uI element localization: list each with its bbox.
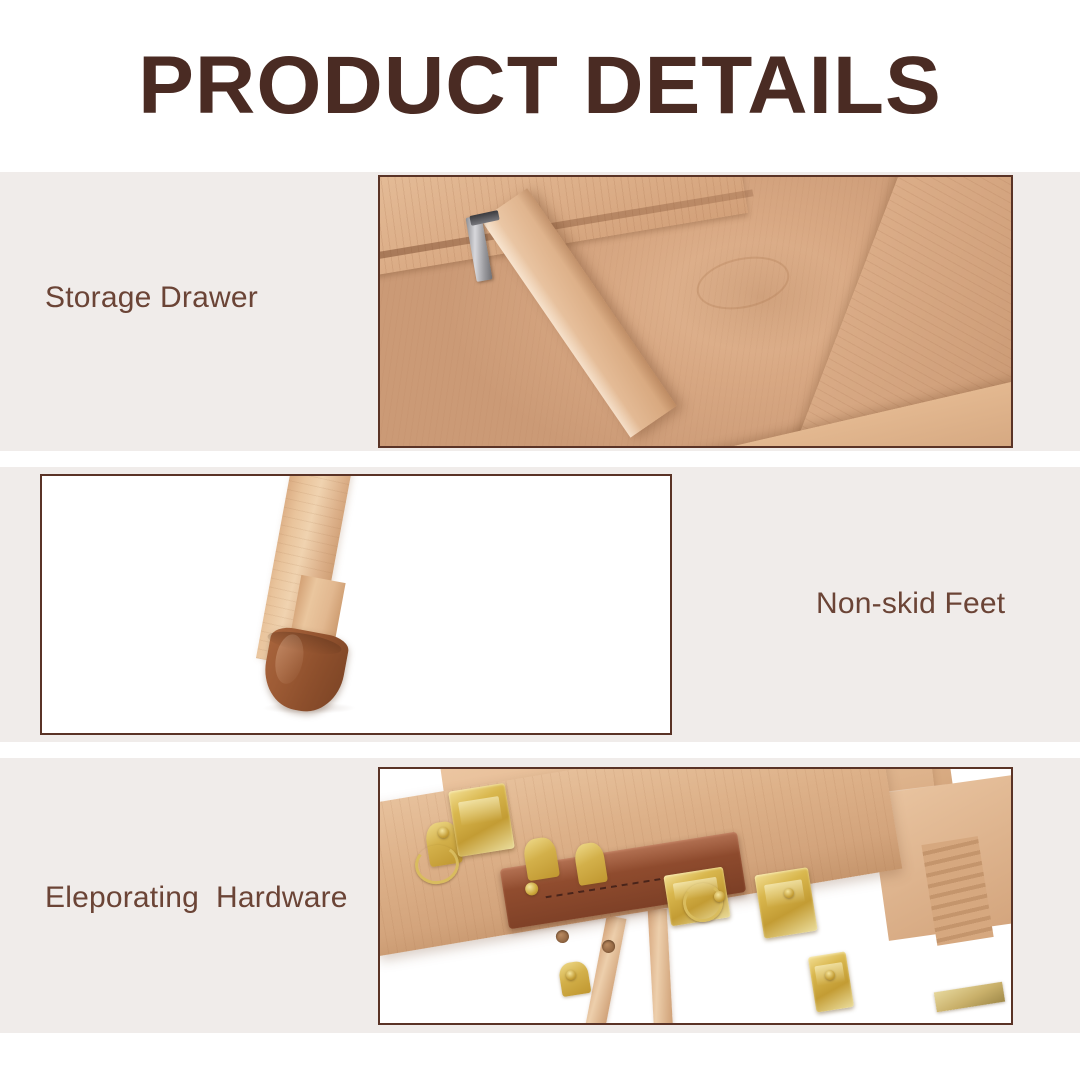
product-photo-storage-drawer [378,175,1013,448]
brass-toggle-latch [754,867,817,938]
detail-panel-non-skid-feet: Non-skid Feet [0,467,1080,742]
screw-hole [555,930,570,945]
handle-rivet [524,882,539,897]
product-photo-hardware [378,767,1013,1025]
photo-non-skid-feet-content [42,476,670,733]
panel-label-storage-drawer: Storage Drawer [45,281,258,315]
panel-label-hardware: Eleporating Hardware [45,881,348,915]
photo-hardware-content [380,769,1011,1023]
detail-panel-hardware: Eleporating Hardware [0,758,1080,1033]
photo-storage-drawer-content [380,177,1011,446]
page-header: PRODUCT DETAILS [0,0,1080,172]
product-photo-non-skid-feet [40,474,672,735]
detail-panel-storage-drawer: Storage Drawer [0,172,1080,451]
brass-screw [825,970,835,980]
page-title: PRODUCT DETAILS [138,39,942,133]
photo-white-backdrop [42,476,670,733]
screw-hole [601,939,616,954]
panel-label-non-skid-feet: Non-skid Feet [816,587,1005,621]
brass-screw [566,970,576,980]
brass-toggle-latch [448,783,514,857]
